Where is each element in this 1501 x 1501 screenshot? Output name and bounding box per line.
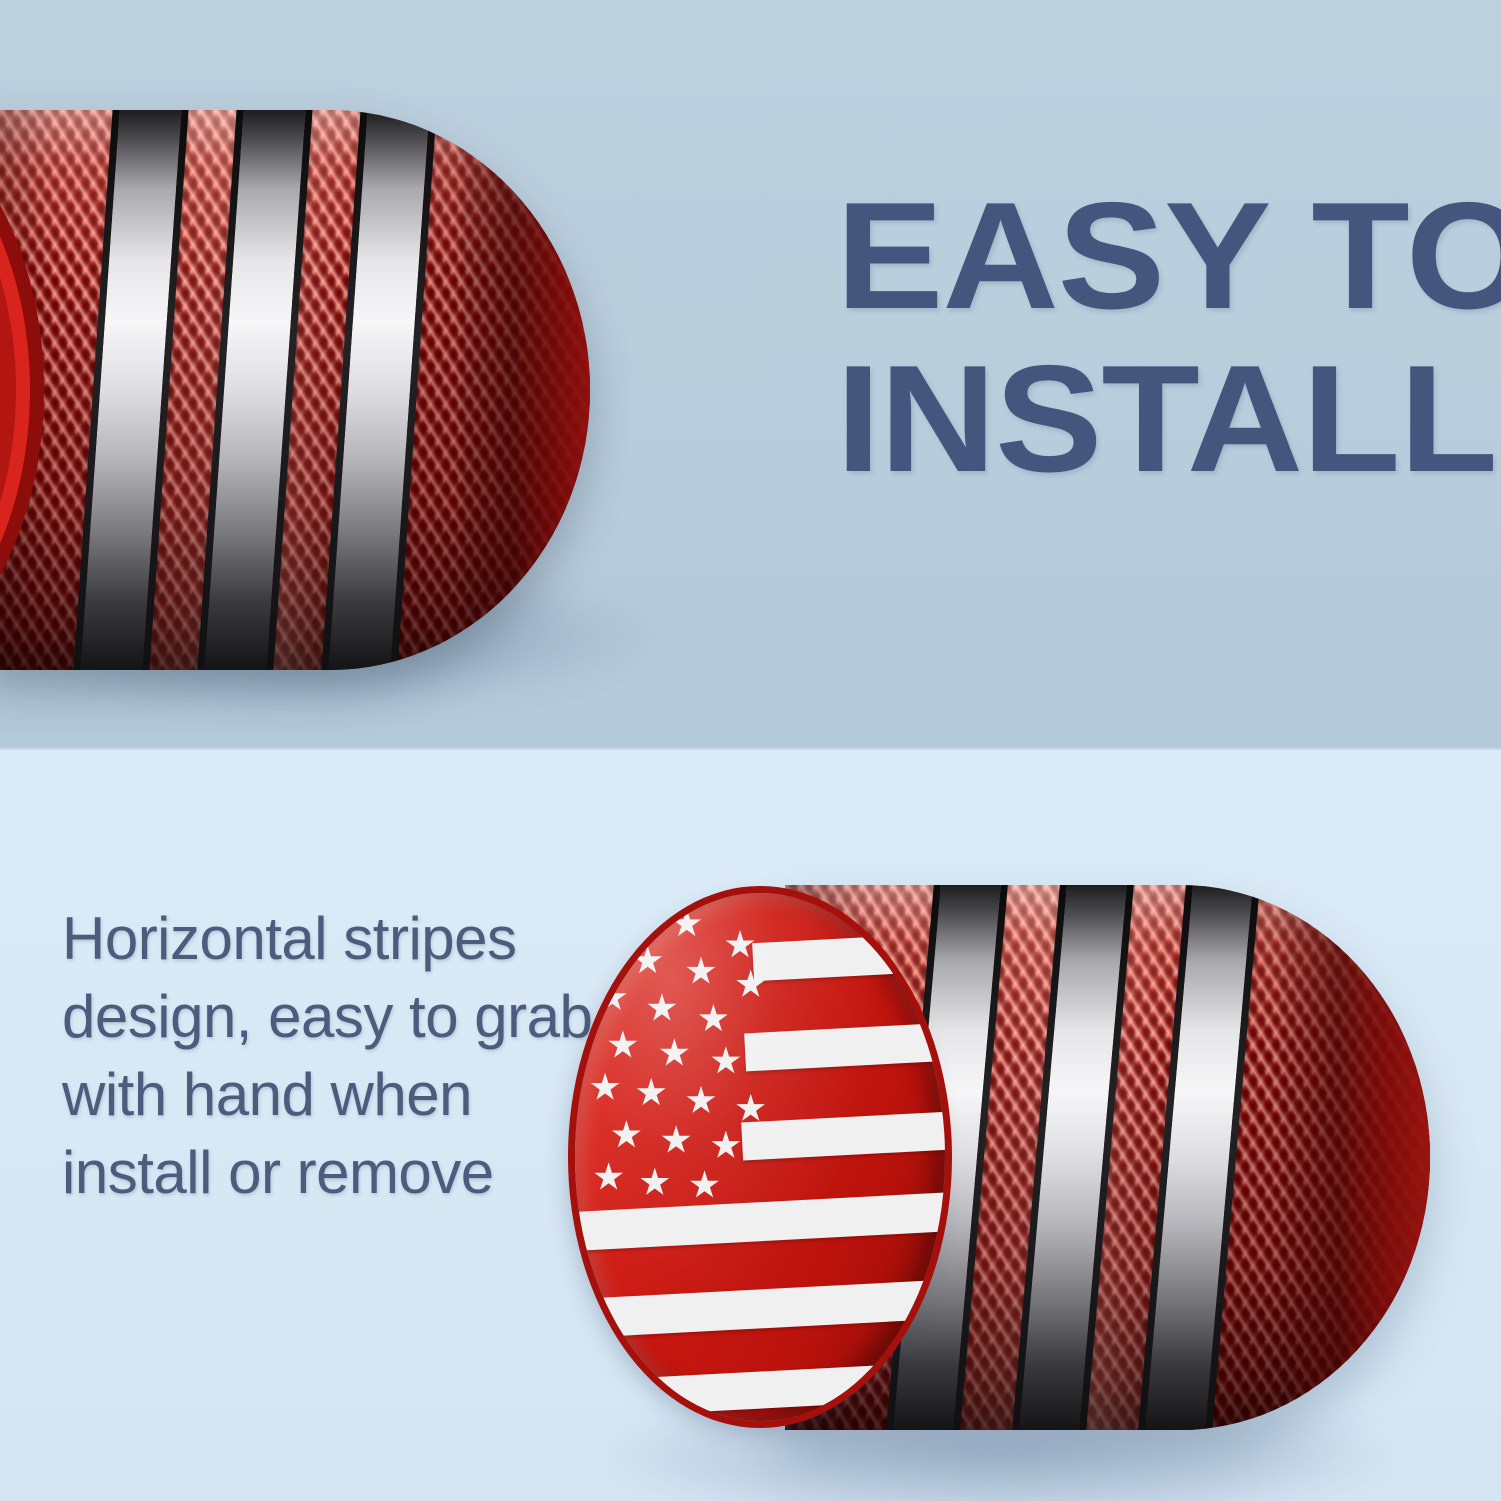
flag-star-field [597,914,775,1178]
star [711,1131,741,1161]
star [736,970,766,1000]
star [686,1086,716,1116]
headline-block: EASY TO INSTALL [836,182,1436,494]
star [672,909,702,939]
star [633,946,663,976]
star [736,1094,766,1124]
star [725,930,755,960]
star [659,1038,689,1068]
star [597,983,627,1013]
star [661,1125,691,1155]
valve-cap-bottom [575,885,1430,1430]
star [640,1168,670,1198]
headline-line-2: INSTALL [836,345,1472,494]
american-flag-face [575,893,945,1421]
star [611,1120,641,1150]
valve-cap-top [0,110,590,670]
cap-barrel-top [0,110,590,670]
flag-stripe-full-2 [593,1280,942,1337]
star [647,993,677,1023]
panel-top: EASY TO INSTALL [0,0,1501,750]
star [686,956,716,986]
star [711,1046,741,1076]
star [608,1030,638,1060]
star [636,1078,666,1108]
star [698,1004,728,1034]
flag-stripe-full-1 [578,1192,945,1250]
star [590,1073,620,1103]
headline-line-1: EASY TO [836,182,1472,331]
product-feature-stage: EASY TO INSTALL Horizontal stripes desig… [0,0,1501,1501]
star [594,1162,624,1192]
feature-description: Horizontal stripes design, easy to grab … [62,900,622,1212]
cap-closed-end-bottom [1280,885,1430,1430]
star [690,1170,720,1200]
panel-bottom: Horizontal stripes design, easy to grab … [0,750,1501,1501]
cap-closed-end-top [460,110,590,670]
